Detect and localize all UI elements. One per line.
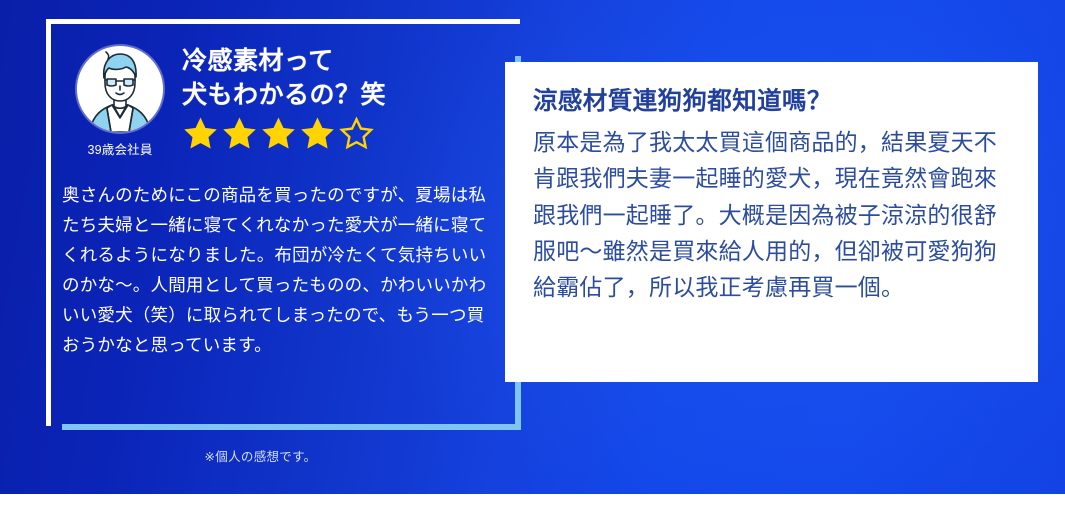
star-filled-icon xyxy=(221,116,258,152)
star-outline-icon xyxy=(338,116,375,152)
frame-bracket-bottom xyxy=(62,424,521,430)
frame-bracket-left xyxy=(46,19,51,426)
star-filled-icon xyxy=(182,116,219,152)
review-disclaimer: ※個人の感想です。 xyxy=(0,446,521,465)
man-with-glasses-avatar-icon xyxy=(77,46,163,132)
review-headline: 冷感素材って 犬もわかるの？笑 xyxy=(182,44,507,112)
translation-body: 原本是為了我太太買這個商品的，結果夏天不肯跟我們夫妻一起睡的愛犬，現在竟然會跑來… xyxy=(533,124,1008,306)
star-rating xyxy=(182,116,507,152)
review-body-text: 奥さんのためにこの商品を買ったのですが、夏場は私たち夫婦と一緒に寝てくれなかった… xyxy=(62,180,494,361)
review-heading-group: 冷感素材って 犬もわかるの？笑 xyxy=(182,44,507,152)
translation-panel: 涼感材質連狗狗都知道嗎？ 原本是為了我太太買這個商品的，結果夏天不肯跟我們夫妻一… xyxy=(505,62,1038,382)
review-card: 39歳会社員 冷感素材って 犬もわかるの？笑 xyxy=(62,44,507,414)
reviewer-identity: 39歳会社員 xyxy=(72,46,168,158)
review-header: 39歳会社員 冷感素材って 犬もわかるの？笑 xyxy=(62,44,507,164)
frame-bracket-top xyxy=(46,19,520,24)
star-filled-icon xyxy=(299,116,336,152)
bottom-white-strip xyxy=(0,494,1065,510)
reviewer-caption: 39歳会社員 xyxy=(72,139,168,158)
translation-title: 涼感材質連狗狗都知道嗎？ xyxy=(533,86,1008,118)
review-banner: 39歳会社員 冷感素材って 犬もわかるの？笑 xyxy=(0,0,1065,510)
star-filled-icon xyxy=(260,116,297,152)
